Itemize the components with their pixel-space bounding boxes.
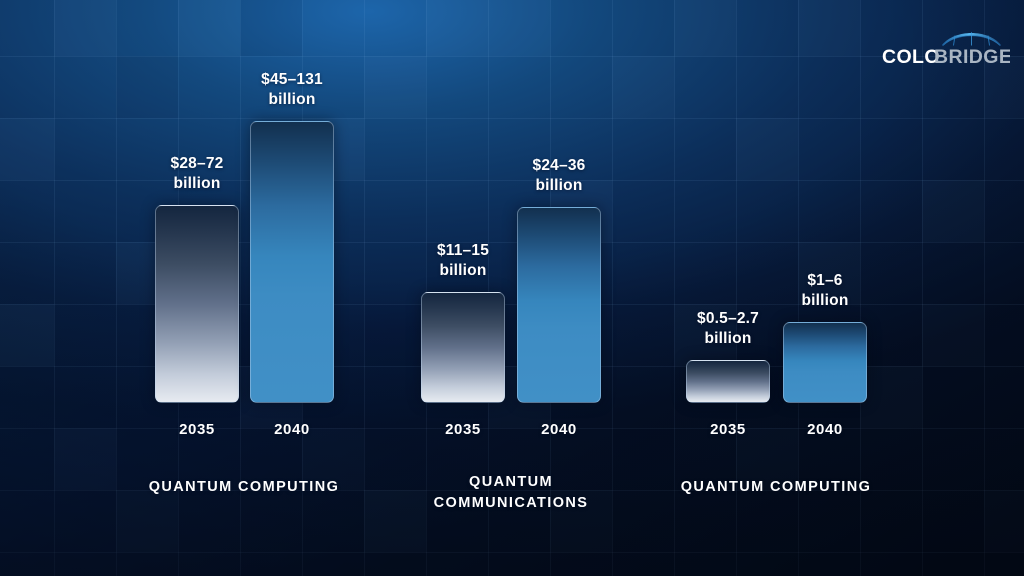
bar-group2-2035[interactable] — [421, 292, 505, 403]
bar-chart: $28–72 billion 2035 $45–131 billion 2040… — [0, 0, 1024, 576]
value-range: $45–131 — [217, 70, 367, 90]
category-label-group3: QUANTUM COMPUTING — [626, 477, 926, 498]
category-line-1: QUANTUM — [361, 472, 661, 493]
year-label-group2-2040: 2040 — [517, 421, 601, 438]
year-label-group1-2040: 2040 — [250, 421, 334, 438]
slide-canvas: COLO BRIDGE $28–72 billion 2035 $45–131 … — [0, 0, 1024, 576]
value-unit: billion — [750, 291, 900, 311]
bar-group3-2035[interactable] — [686, 360, 770, 403]
bar-label-group1-2040: $45–131 billion — [217, 70, 367, 110]
value-unit: billion — [653, 329, 803, 349]
bar-label-group2-2035: $11–15 billion — [388, 241, 538, 281]
bar-label-group3-2040: $1–6 billion — [750, 271, 900, 311]
year-label-group3-2040: 2040 — [783, 421, 867, 438]
category-label-group2: QUANTUM COMMUNICATIONS — [361, 472, 661, 514]
year-label-group2-2035: 2035 — [421, 421, 505, 438]
bar-group1-2035[interactable] — [155, 205, 239, 403]
value-range: $11–15 — [388, 241, 538, 261]
value-unit: billion — [388, 261, 538, 281]
bar-group3-2040[interactable] — [783, 322, 867, 403]
year-label-group1-2035: 2035 — [155, 421, 239, 438]
category-line-2: COMMUNICATIONS — [361, 493, 661, 514]
bar-label-group3-2035: $0.5–2.7 billion — [653, 309, 803, 349]
year-label-group3-2035: 2035 — [686, 421, 770, 438]
bar-group2-2040[interactable] — [517, 207, 601, 403]
bar-label-group2-2040: $24–36 billion — [484, 156, 634, 196]
value-unit: billion — [484, 176, 634, 196]
value-range: $24–36 — [484, 156, 634, 176]
category-label-group1: QUANTUM COMPUTING — [94, 477, 394, 498]
value-unit: billion — [217, 90, 367, 110]
value-range: $1–6 — [750, 271, 900, 291]
value-range: $0.5–2.7 — [653, 309, 803, 329]
bar-group1-2040[interactable] — [250, 121, 334, 403]
